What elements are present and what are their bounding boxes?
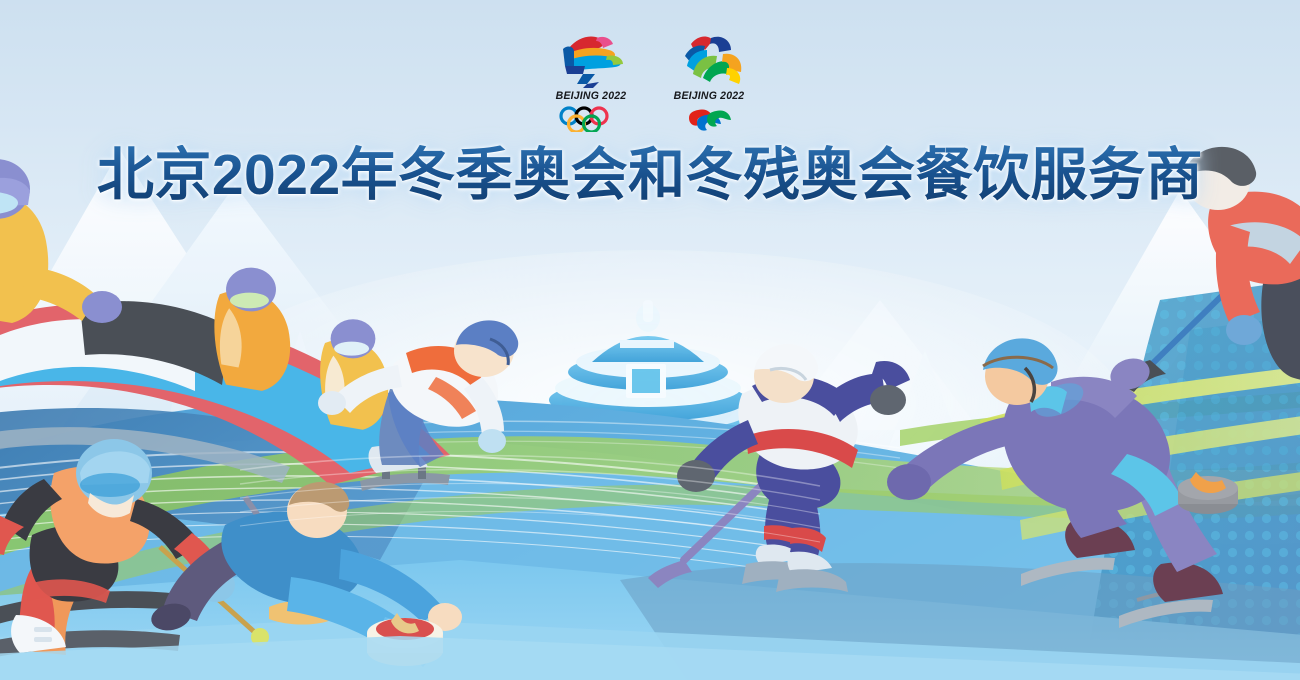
olympic-emblem: BEIJING 2022 — [543, 32, 639, 132]
paralympic-mark-icon — [661, 32, 757, 88]
paralympic-wordmark: BEIJING 2022 — [674, 90, 745, 103]
olympic-mark-icon — [543, 32, 639, 88]
beijing-2022-banner: BEIJING 2022 — [0, 0, 1300, 680]
paralympic-emblem: BEIJING 2022 — [661, 32, 757, 132]
olympic-wordmark: BEIJING 2022 — [556, 90, 627, 103]
emblem-row: BEIJING 2022 — [0, 32, 1300, 132]
page-title: 北京2022年冬季奥会和冬残奥会餐饮服务商 — [97, 145, 1203, 205]
olympic-rings-icon — [552, 106, 630, 132]
agitos-icon — [670, 106, 748, 132]
page-title-wrap: 北京2022年冬季奥会和冬残奥会餐饮服务商 — [0, 145, 1300, 205]
